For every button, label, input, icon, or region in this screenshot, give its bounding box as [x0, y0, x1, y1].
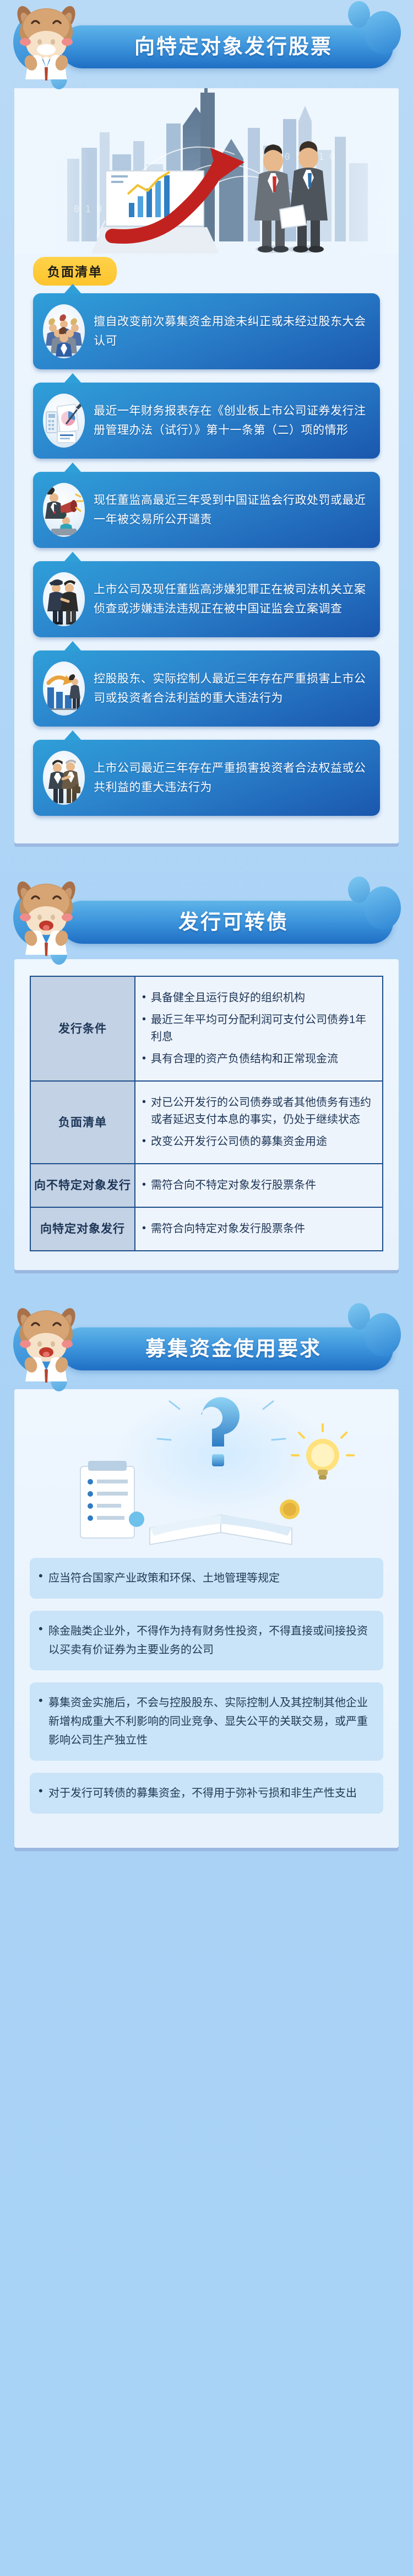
table-row-label: 向特定对象发行 [30, 1207, 135, 1251]
decorative-blob-icon [365, 886, 401, 929]
list-item: 应当符合国家产业政策和环保、土地管理等规定 [30, 1558, 383, 1599]
list-item[interactable]: 现任董监高最近三年受到中国证监会行政处罚或最近一年被交易所公开谴责 [33, 472, 380, 548]
cow-mascot-icon [10, 873, 83, 956]
financial-report-icon [43, 394, 85, 448]
table-row-label: 向不特定对象发行 [30, 1164, 135, 1207]
list-item: 最近三年平均可分配利润可支付公司债券1年利息 [141, 1012, 373, 1046]
section-1-title: 向特定对象发行股票 [87, 30, 380, 64]
section-2-banner: 发行可转债 [0, 875, 413, 959]
megaphone-announcement-icon [43, 483, 85, 537]
list-item: 具有合理的资产负债结构和正常现金流 [141, 1051, 373, 1068]
hero-illustration-1: 0 1 0 1 0 1 0 1 0 1 0 1 0 [14, 88, 399, 254]
list-item[interactable]: 擅自改变前次募集资金用途未纠正或未经过股东大会认可 [33, 293, 380, 369]
table-row-value: 具备健全且运行良好的组织机构 最近三年平均可分配利润可支付公司债券1年利息 具有… [135, 976, 383, 1081]
question-mark-book-lightbulb-illustration [14, 1389, 413, 1555]
section-2-title: 发行可转债 [87, 905, 380, 939]
decorative-blob-icon [365, 11, 401, 54]
city-skyline-businessmen-illustration: 0 1 0 1 0 1 0 1 0 1 0 1 0 [14, 88, 399, 254]
table-row-value: 需符合向不特定对象发行股票条件 [135, 1164, 383, 1207]
table-row: 发行条件 具备健全且运行良好的组织机构 最近三年平均可分配利润可支付公司债券1年… [30, 976, 383, 1081]
declining-bar-chart-icon [43, 662, 85, 716]
list-item: 对于发行可转债的募集资金，不得用于弥补亏损和非生产性支出 [30, 1773, 383, 1814]
table-row-value: 需符合向特定对象发行股票条件 [135, 1207, 383, 1251]
list-item[interactable]: 上市公司最近三年存在严重损害投资者合法权益或公共利益的重大违法行为 [33, 740, 380, 816]
section-1-list: 擅自改变前次募集资金用途未纠正或未经过股东大会认可 [14, 286, 399, 843]
list-item: 需符合向特定对象发行股票条件 [141, 1220, 373, 1238]
section-3-card: 应当符合国家产业政策和环保、土地管理等规定 除金融类企业外，不得作为持有财务性投… [14, 1389, 399, 1848]
table-row-label: 负面清单 [30, 1081, 135, 1164]
list-item: 对已公开发行的公司债券或者其他债务有违约或者延迟支付本息的事实，仍处于继续状态 [141, 1094, 373, 1128]
list-item-text: 上市公司及现任董监高涉嫌犯罪正在被司法机关立案侦查或涉嫌违法违规正在被中国证监会… [94, 580, 368, 619]
table-row: 向不特定对象发行 需符合向不特定对象发行股票条件 [30, 1164, 383, 1207]
list-item-text: 擅自改变前次募集资金用途未纠正或未经过股东大会认可 [94, 312, 368, 351]
section-3-banner: 募集资金使用要求 [0, 1302, 413, 1386]
table-row-value: 对已公开发行的公司债券或者其他债务有违约或者延迟支付本息的事实，仍处于继续状态 … [135, 1081, 383, 1164]
team-people-icon [43, 304, 85, 358]
conditions-table-wrapper: 发行条件 具备健全且运行良好的组织机构 最近三年平均可分配利润可支付公司债券1年… [14, 959, 399, 1270]
list-item-text: 控股股东、实际控制人最近三年存在严重损害上市公司或投资者合法利益的重大违法行为 [94, 669, 368, 708]
list-item-text: 上市公司最近三年存在严重损害投资者合法权益或公共利益的重大违法行为 [94, 759, 368, 797]
businessmen-dispute-icon [43, 751, 85, 805]
police-arrest-icon [43, 572, 85, 626]
list-item: 需符合向不特定对象发行股票条件 [141, 1177, 373, 1194]
section-3-requirements: 应当符合国家产业政策和环保、土地管理等规定 除金融类企业外，不得作为持有财务性投… [14, 1555, 399, 1848]
negative-list-badge: 负面清单 [33, 257, 117, 286]
decorative-blob-icon [365, 1313, 401, 1356]
list-item: 除金融类企业外，不得作为持有财务性投资，不得直接或间接投资以买卖有价证券为主要业… [30, 1611, 383, 1670]
list-item[interactable]: 上市公司及现任董监高涉嫌犯罪正在被司法机关立案侦查或涉嫌违法违规正在被中国证监会… [33, 561, 380, 637]
table-row: 负面清单 对已公开发行的公司债券或者其他债务有违约或者延迟支付本息的事实，仍处于… [30, 1081, 383, 1164]
section-1-card: 0 1 0 1 0 1 0 1 0 1 0 1 0 [14, 88, 399, 843]
table-row-label: 发行条件 [30, 976, 135, 1081]
infographic-page: 向特定对象发行股票 [0, 0, 413, 2576]
conditions-table: 发行条件 具备健全且运行良好的组织机构 最近三年平均可分配利润可支付公司债券1年… [30, 976, 383, 1251]
list-item-text: 最近一年财务报表存在《创业板上市公司证券发行注册管理办法（试行）》第十一条第（二… [94, 401, 368, 440]
section-3-title: 募集资金使用要求 [87, 1332, 380, 1366]
list-item-text: 现任董监高最近三年受到中国证监会行政处罚或最近一年被交易所公开谴责 [94, 491, 368, 529]
list-item[interactable]: 最近一年财务报表存在《创业板上市公司证券发行注册管理办法（试行）》第十一条第（二… [33, 383, 380, 459]
list-item[interactable]: 控股股东、实际控制人最近三年存在严重损害上市公司或投资者合法利益的重大违法行为 [33, 650, 380, 727]
list-item: 募集资金实施后，不会与控股股东、实际控制人及其控制其他企业新增构成重大不利影响的… [30, 1682, 383, 1761]
table-row: 向特定对象发行 需符合向特定对象发行股票条件 [30, 1207, 383, 1251]
cow-mascot-icon [10, 0, 83, 80]
section-1-banner: 向特定对象发行股票 [0, 0, 413, 84]
hero-illustration-3 [14, 1389, 399, 1555]
section-2-card: 发行条件 具备健全且运行良好的组织机构 最近三年平均可分配利润可支付公司债券1年… [14, 959, 399, 1270]
list-item: 改变公开发行公司债的募集资金用途 [141, 1133, 373, 1150]
list-item: 具备健全且运行良好的组织机构 [141, 989, 373, 1007]
cow-mascot-icon [10, 1300, 83, 1383]
